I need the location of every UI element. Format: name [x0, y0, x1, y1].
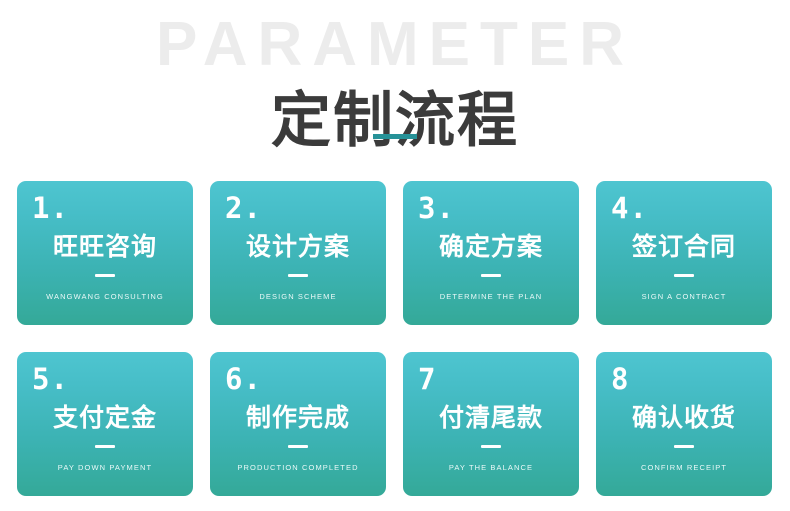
page-header: PARAMETER 定制流程: [0, 0, 790, 160]
step-title: 设计方案: [210, 235, 386, 260]
step-title: 确定方案: [403, 235, 579, 260]
process-step-card-4[interactable]: 4. 签订合同 SIGN A CONTRACT: [596, 181, 772, 325]
process-step-card-7[interactable]: 7 付清尾款 PAY THE BALANCE: [403, 352, 579, 496]
step-divider-rule: [674, 274, 694, 277]
process-step-card-6[interactable]: 6. 制作完成 PRODUCTION COMPLETED: [210, 352, 386, 496]
step-title: 制作完成: [210, 406, 386, 431]
step-divider-rule: [288, 274, 308, 277]
step-number: 5.: [32, 365, 69, 394]
step-number: 7: [418, 365, 436, 394]
title-underline-rule: [373, 134, 417, 139]
step-title: 确认收货: [596, 406, 772, 431]
process-step-card-1[interactable]: 1. 旺旺咨询 WANGWANG CONSULTING: [17, 181, 193, 325]
step-title: 签订合同: [596, 235, 772, 260]
step-divider-rule: [288, 445, 308, 448]
step-number: 8: [611, 365, 629, 394]
step-subtitle: CONFIRM RECEIPT: [596, 464, 772, 472]
step-number: 6.: [225, 365, 262, 394]
step-number: 3.: [418, 194, 455, 223]
step-number: 4.: [611, 194, 648, 223]
step-title: 付清尾款: [403, 406, 579, 431]
step-divider-rule: [481, 445, 501, 448]
page-title: 定制流程: [0, 88, 790, 154]
step-subtitle: PRODUCTION COMPLETED: [210, 464, 386, 472]
process-step-card-3[interactable]: 3. 确定方案 DETERMINE THE PLAN: [403, 181, 579, 325]
process-step-card-8[interactable]: 8 确认收货 CONFIRM RECEIPT: [596, 352, 772, 496]
step-divider-rule: [95, 274, 115, 277]
step-subtitle: DESIGN SCHEME: [210, 293, 386, 301]
watermark-text: PARAMETER: [0, 14, 790, 76]
step-divider-rule: [674, 445, 694, 448]
process-step-card-2[interactable]: 2. 设计方案 DESIGN SCHEME: [210, 181, 386, 325]
step-subtitle: SIGN A CONTRACT: [596, 293, 772, 301]
step-number: 2.: [225, 194, 262, 223]
step-divider-rule: [95, 445, 115, 448]
step-subtitle: PAY THE BALANCE: [403, 464, 579, 472]
step-title: 支付定金: [17, 406, 193, 431]
process-step-grid: 1. 旺旺咨询 WANGWANG CONSULTING 2. 设计方案 DESI…: [17, 181, 773, 496]
step-number: 1.: [32, 194, 69, 223]
step-subtitle: DETERMINE THE PLAN: [403, 293, 579, 301]
step-subtitle: WANGWANG CONSULTING: [17, 293, 193, 301]
step-subtitle: PAY DOWN PAYMENT: [17, 464, 193, 472]
step-title: 旺旺咨询: [17, 235, 193, 260]
process-step-card-5[interactable]: 5. 支付定金 PAY DOWN PAYMENT: [17, 352, 193, 496]
step-divider-rule: [481, 274, 501, 277]
